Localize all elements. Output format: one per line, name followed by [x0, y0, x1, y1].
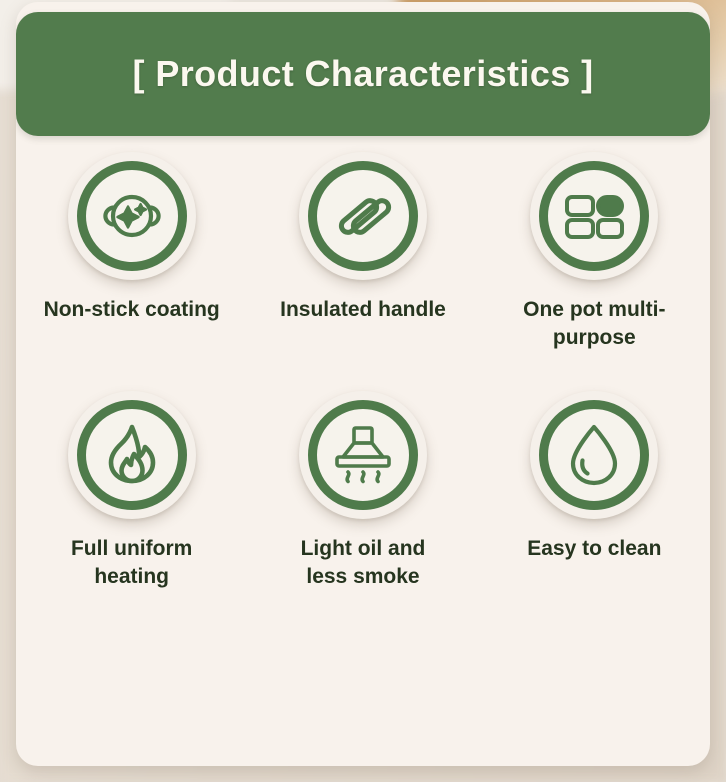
- feature-icon-badge: [299, 391, 427, 519]
- feature-item-non-stick-coating[interactable]: Non-stick coating: [16, 152, 247, 351]
- icon-ring: [539, 400, 649, 510]
- feature-icon-badge: [530, 391, 658, 519]
- feature-icon-badge: [68, 391, 196, 519]
- section-header-banner: [ Product Characteristics ]: [16, 12, 710, 136]
- feature-item-easy-to-clean[interactable]: Easy to clean: [479, 391, 710, 590]
- multi-compartment-icon: [557, 179, 631, 253]
- feature-item-insulated-handle[interactable]: Insulated handle: [247, 152, 478, 351]
- double-handle-icon: [324, 177, 402, 255]
- icon-ring: [539, 161, 649, 271]
- feature-item-full-uniform-heating[interactable]: Full uniform heating: [16, 391, 247, 590]
- feature-label: One pot multi-purpose: [504, 296, 684, 351]
- icon-ring: [77, 161, 187, 271]
- water-drop-icon: [559, 420, 629, 490]
- page-title: [ Product Characteristics ]: [133, 53, 594, 95]
- feature-label: Light oil and less smoke: [278, 535, 448, 590]
- feature-label: Full uniform heating: [47, 535, 217, 590]
- feature-icon-badge: [530, 152, 658, 280]
- range-hood-smoke-icon: [325, 417, 401, 493]
- feature-label: Insulated handle: [280, 296, 446, 324]
- feature-icon-badge: [299, 152, 427, 280]
- feature-label: Non-stick coating: [44, 296, 220, 324]
- feature-label: Easy to clean: [527, 535, 661, 563]
- icon-ring: [308, 400, 418, 510]
- feature-grid: Non-stick coating Insulated handle: [16, 152, 710, 631]
- feature-icon-badge: [68, 152, 196, 280]
- product-characteristics-card: [ Product Characteristics ]: [16, 2, 710, 766]
- icon-ring: [77, 400, 187, 510]
- flame-icon: [96, 419, 168, 491]
- feature-item-light-oil-less-smoke[interactable]: Light oil and less smoke: [247, 391, 478, 590]
- sparkling-pot-icon: [93, 177, 171, 255]
- feature-item-one-pot-multi-purpose[interactable]: One pot multi-purpose: [479, 152, 710, 351]
- icon-ring: [308, 161, 418, 271]
